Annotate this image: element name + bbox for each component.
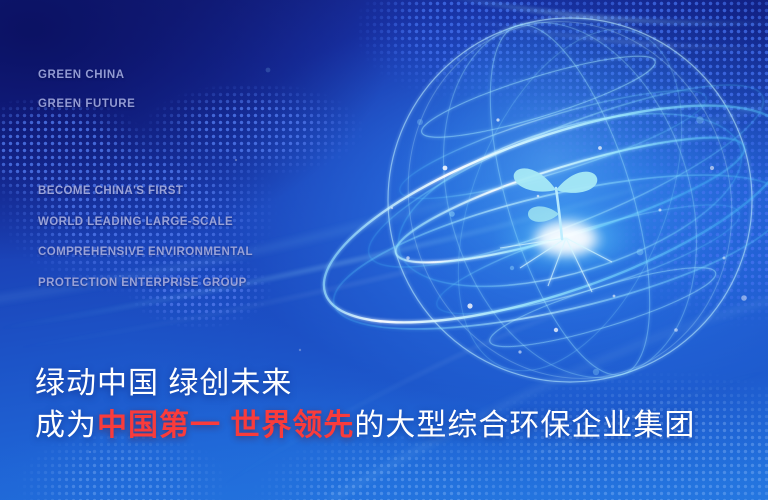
headline-accent: 中国第一 世界领先 — [97, 409, 354, 442]
headline-line-2: 成为中国第一 世界领先的大型综合环保企业集团 — [35, 408, 695, 443]
headline-prefix: 成为 — [35, 409, 97, 442]
mission-line-2: WORLD LEADING LARGE-SCALE — [38, 217, 253, 229]
tagline-block: GREEN CHINA GREEN FUTURE — [38, 70, 135, 127]
green-china-hero-banner: GREEN CHINA GREEN FUTURE BECOME CHINA'S … — [0, 0, 768, 500]
mission-line-3: COMPREHENSIVE ENVIRONMENTAL — [38, 247, 253, 259]
tagline-line-2: GREEN FUTURE — [38, 99, 135, 111]
tagline-line-1: GREEN CHINA — [38, 70, 135, 82]
mission-line-4: PROTECTION ENTERPRISE GROUP — [38, 278, 253, 290]
headline-block: 绿动中国 绿创未来 成为中国第一 世界领先的大型综合环保企业集团 — [35, 366, 695, 444]
mission-statement-block: BECOME CHINA'S FIRST WORLD LEADING LARGE… — [38, 186, 253, 308]
headline-line-1: 绿动中国 绿创未来 — [35, 366, 695, 401]
mission-line-1: BECOME CHINA'S FIRST — [38, 186, 253, 198]
headline-suffix: 的大型综合环保企业集团 — [354, 409, 695, 442]
